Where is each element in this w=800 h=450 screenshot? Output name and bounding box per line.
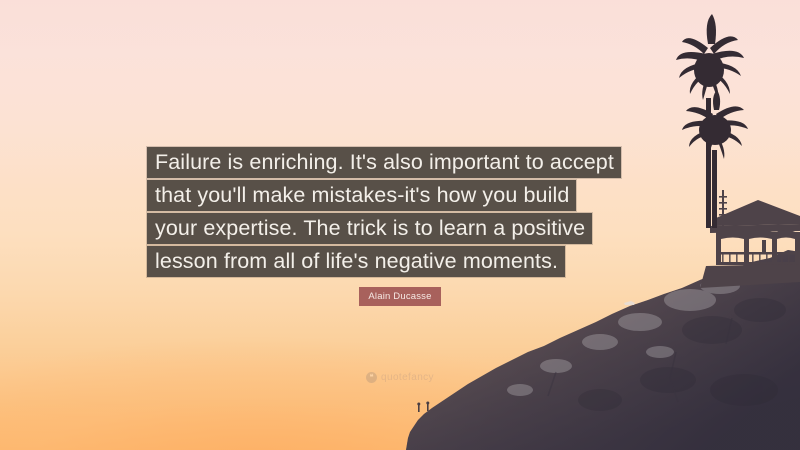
author-name: Alain Ducasse [359, 287, 440, 306]
quote-wallpaper: Failure is enriching. It's also importan… [0, 0, 800, 450]
quote-line: that you'll make mistakes-it's how you b… [147, 180, 576, 211]
quote-line: Failure is enriching. It's also importan… [147, 147, 621, 178]
watermark: ❝ quotefancy [0, 366, 800, 384]
author-attribution: Alain Ducasse [0, 286, 800, 306]
figures-on-cliff [417, 402, 429, 413]
quote-block: Failure is enriching. It's also importan… [147, 147, 657, 279]
watermark-brand: quotefancy [381, 372, 434, 383]
quote-line: your expertise. The trick is to learn a … [147, 213, 592, 244]
palm-tree-short [682, 90, 748, 228]
quote-mark-icon: ❝ [366, 372, 377, 383]
quote-line: lesson from all of life's negative momen… [147, 246, 565, 277]
